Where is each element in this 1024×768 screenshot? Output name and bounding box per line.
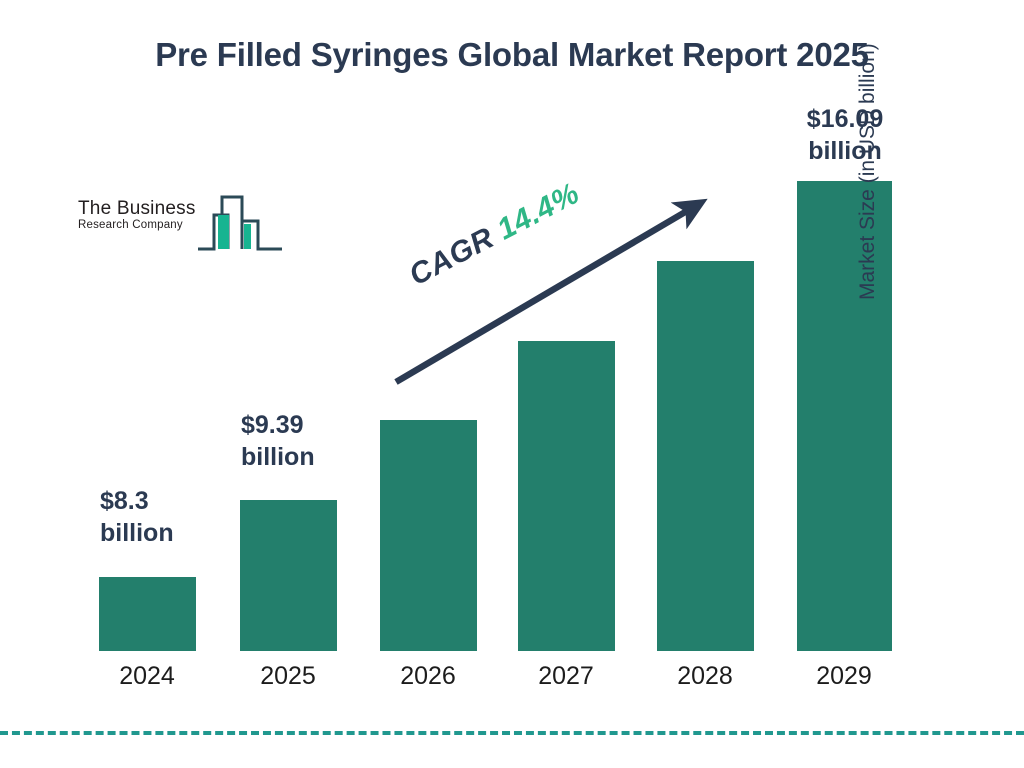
bar-label-2025-line-2: billion <box>241 441 391 473</box>
bar-2026 <box>380 420 477 651</box>
y-axis-title: Market Size (in USD billion) <box>856 0 880 300</box>
cagr-word: CAGR <box>404 221 499 292</box>
x-tick-2027: 2027 <box>491 662 641 691</box>
bar-2028 <box>657 261 754 651</box>
bar-2027 <box>518 341 615 651</box>
cagr-annotation: CAGR 14.4% <box>404 177 585 293</box>
cagr-value: 14.4% <box>492 177 585 247</box>
x-tick-2029: 2029 <box>769 662 919 691</box>
bar-label-2024-line-1: $8.3 <box>100 485 250 517</box>
bar-2024 <box>99 577 196 651</box>
bar-label-2029-line-2: billion <box>770 135 920 167</box>
x-tick-2026: 2026 <box>353 662 503 691</box>
chart-page: Pre Filled Syringes Global Market Report… <box>0 0 1024 768</box>
x-tick-2024: 2024 <box>72 662 222 691</box>
x-tick-2028: 2028 <box>630 662 780 691</box>
bottom-divider <box>0 731 1024 735</box>
x-tick-2025: 2025 <box>213 662 363 691</box>
bar-label-2025: $9.39 billion <box>213 409 391 473</box>
bar-chart-plot: $8.3 billion $9.39 billion $16.09 billio… <box>0 0 1024 768</box>
bar-label-2024-line-2: billion <box>100 517 250 549</box>
bar-2025 <box>240 500 337 651</box>
bar-label-2025-line-1: $9.39 <box>241 409 391 441</box>
bar-label-2024: $8.3 billion <box>72 485 250 549</box>
bar-label-2029-line-1: $16.09 <box>770 103 920 135</box>
bar-label-2029: $16.09 billion <box>770 103 920 167</box>
